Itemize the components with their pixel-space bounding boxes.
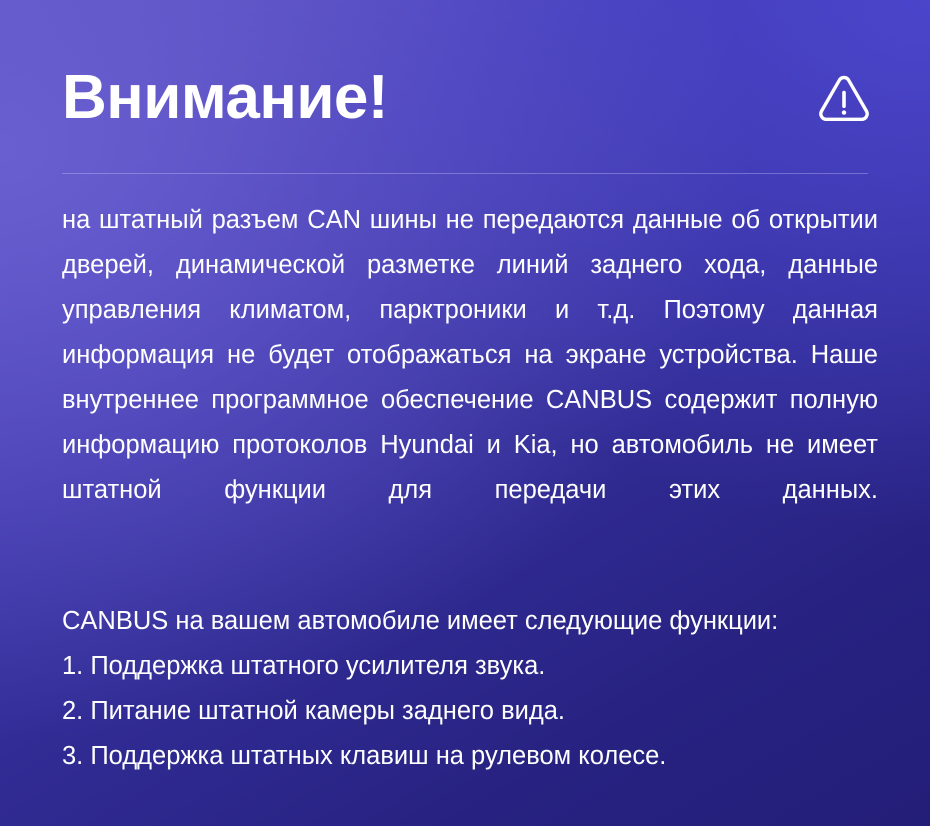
list-item: 1. Поддержка штатного усилителя звука. bbox=[62, 644, 878, 689]
list-item: 3. Поддержка штатных клавиш на рулевом к… bbox=[62, 734, 878, 779]
functions-list: 1. Поддержка штатного усилителя звука. 2… bbox=[62, 644, 878, 779]
warning-notice-poster: Внимание! на штатный разъем CAN шины не … bbox=[0, 0, 930, 826]
header-divider bbox=[62, 173, 868, 174]
notice-paragraph: на штатный разъем CAN шины не передаются… bbox=[62, 198, 878, 558]
functions-list-intro: CANBUS на вашем автомобиле имеет следующ… bbox=[62, 599, 878, 644]
poster-content: на штатный разъем CAN шины не передаются… bbox=[62, 198, 878, 779]
warning-triangle-icon bbox=[816, 70, 872, 126]
list-item: 2. Питание штатной камеры заднего вида. bbox=[62, 689, 878, 734]
page-title: Внимание! bbox=[62, 66, 388, 129]
poster-header: Внимание! bbox=[62, 52, 878, 144]
